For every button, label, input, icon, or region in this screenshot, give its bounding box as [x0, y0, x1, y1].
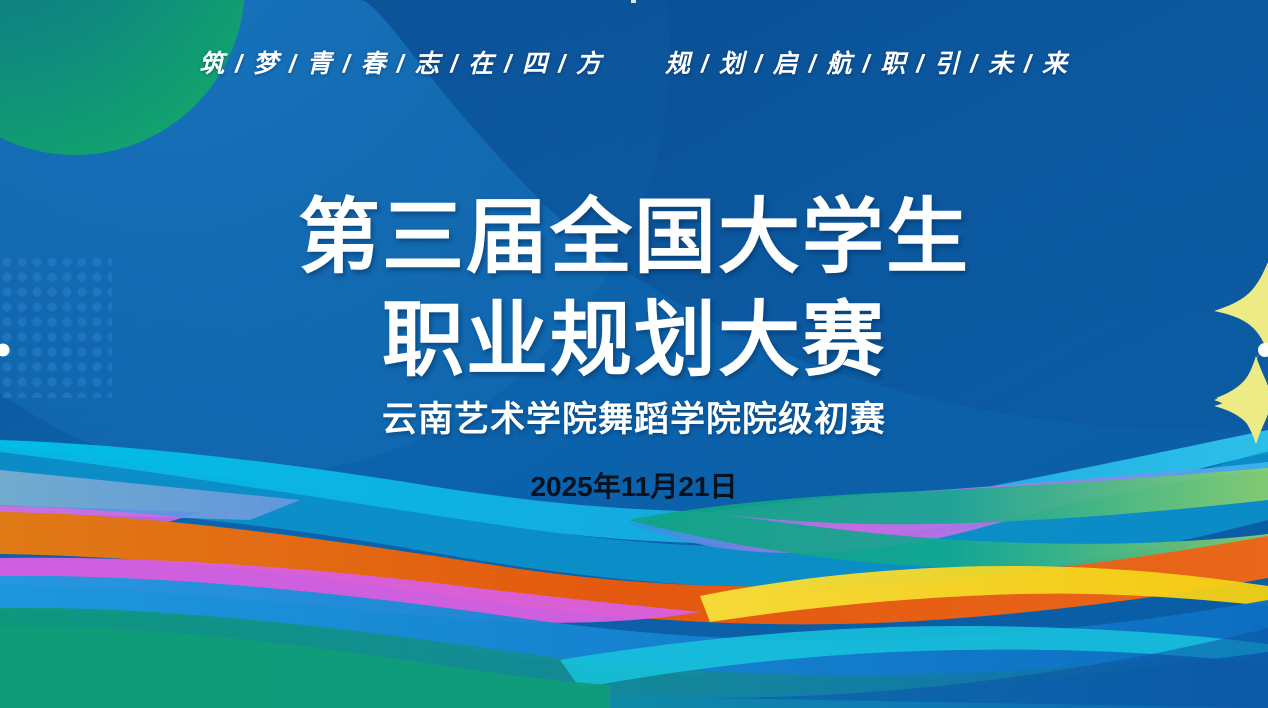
- slogan-right: 规 / 划 / 启 / 航 / 职 / 引 / 未 / 来: [665, 44, 1069, 80]
- main-title-line-2: 职业规划大赛: [0, 289, 1268, 392]
- event-date: 2025年11月21日: [0, 465, 1268, 505]
- main-title-line-1: 第三届全国大学生: [0, 186, 1268, 289]
- poster-canvas: 筑 / 梦 / 青 / 春 / 志 / 在 / 四 / 方 规 / 划 / 启 …: [0, 0, 1268, 708]
- slogan-left: 筑 / 梦 / 青 / 春 / 志 / 在 / 四 / 方: [199, 44, 603, 80]
- title-block: 第三届全国大学生 职业规划大赛 云南艺术学院舞蹈学院院级初赛 2025年11月2…: [0, 186, 1268, 505]
- slogan-row: 筑 / 梦 / 青 / 春 / 志 / 在 / 四 / 方 规 / 划 / 启 …: [0, 44, 1268, 80]
- event-subtitle: 云南艺术学院舞蹈学院院级初赛: [0, 399, 1268, 441]
